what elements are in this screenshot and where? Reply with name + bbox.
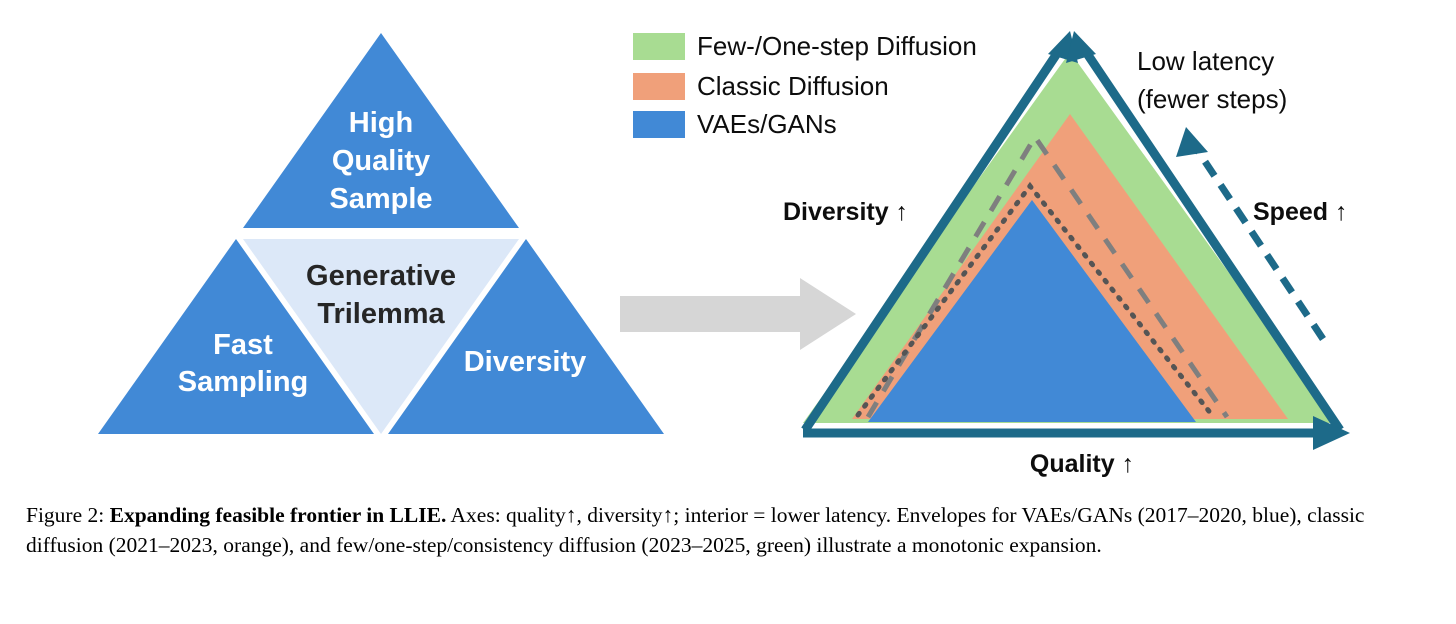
caption-figure-label: Figure 2: — [26, 503, 104, 527]
trilemma-top-label-line3: Sample — [329, 183, 432, 215]
quality-axis-label: Quality ↑ — [1030, 450, 1134, 478]
trilemma-top-label-line1: High — [349, 107, 413, 139]
legend-swatch-green — [633, 33, 685, 60]
legend-swatch-blue — [633, 111, 685, 138]
figure-graphic: High Quality Sample Generative Trilemma … — [0, 0, 1456, 490]
diversity-axis-label: Diversity ↑ — [783, 198, 908, 226]
generative-trilemma-triangle: High Quality Sample Generative Trilemma … — [98, 33, 664, 434]
legend-label-orange: Classic Diffusion — [697, 71, 889, 101]
legend-swatch-orange — [633, 73, 685, 100]
figure-caption: Figure 2: Expanding feasible frontier in… — [26, 500, 1436, 560]
trilemma-top-label-line2: Quality — [332, 145, 430, 177]
legend: Few-/One-step Diffusion Classic Diffusio… — [633, 31, 977, 139]
caption-bold-title: Expanding feasible frontier in LLIE. — [110, 503, 447, 527]
trilemma-center-label-line2: Trilemma — [317, 298, 445, 330]
trilemma-center-label-line1: Generative — [306, 260, 456, 292]
speed-axis-label: Speed ↑ — [1253, 198, 1347, 226]
trilemma-left-label-line2: Sampling — [178, 366, 309, 398]
trilemma-right-label: Diversity — [464, 346, 587, 378]
figure-svg: High Quality Sample Generative Trilemma … — [0, 0, 1456, 490]
low-latency-note-line2: (fewer steps) — [1137, 84, 1287, 114]
legend-label-green: Few-/One-step Diffusion — [697, 31, 977, 61]
legend-label-blue: VAEs/GANs — [697, 109, 837, 139]
right-arrow-icon — [620, 278, 856, 350]
figure-2-root: High Quality Sample Generative Trilemma … — [0, 0, 1456, 624]
trilemma-left-label-line1: Fast — [213, 329, 273, 361]
low-latency-note-line1: Low latency — [1137, 46, 1274, 76]
